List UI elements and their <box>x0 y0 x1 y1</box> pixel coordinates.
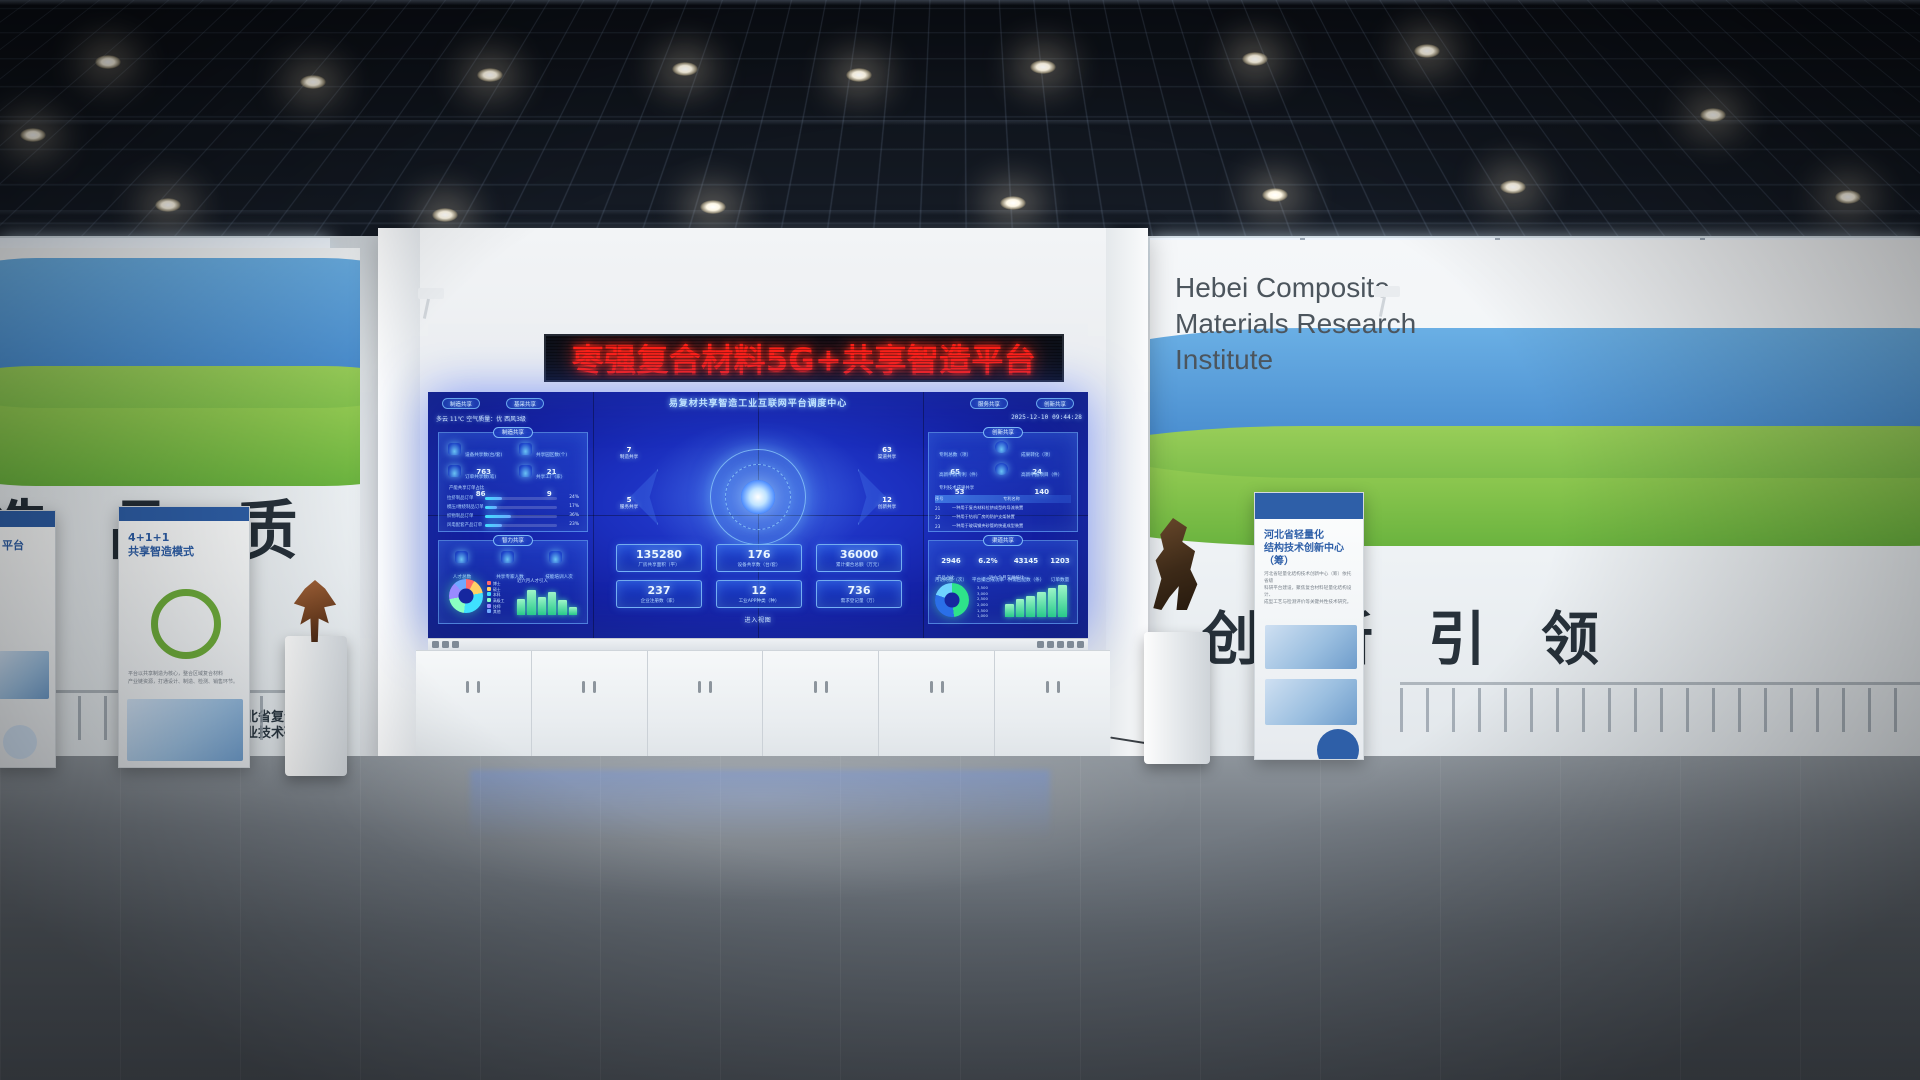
bar-fill <box>485 497 502 500</box>
metric-label: 订单数量 <box>1051 578 1069 583</box>
cell-name: 一种用于玻璃钢夹砂管的快速成型装置 <box>952 523 1071 529</box>
bar-track <box>485 524 557 527</box>
ceiling-downlight <box>1414 44 1440 58</box>
plant-icon <box>519 465 532 477</box>
legend-item: 本科 <box>487 592 501 597</box>
kpi-value: 736 <box>848 585 871 596</box>
standee-photo <box>0 651 49 699</box>
cell-no: 21 <box>935 506 947 511</box>
bar-column <box>527 590 535 615</box>
cabinet-door[interactable] <box>416 651 532 768</box>
cctv-camera-icon <box>1374 286 1400 297</box>
tab-service-share[interactable]: 服务共享 <box>970 398 1008 409</box>
order-icon <box>448 465 461 477</box>
standee-shared-manufacturing-model[interactable]: 4+1+1 共享智造模式 平台以共享制造为核心，整合区域复合材料 产业链资源，打… <box>118 506 250 768</box>
hub-node-value: 12 <box>872 496 902 504</box>
table-row[interactable]: 21 一种用于复合材料拉挤成型的导流装置 <box>935 504 1071 512</box>
kpi-label: 工业APP种类（种） <box>739 598 780 604</box>
video-wall-pillar-right <box>1106 228 1148 768</box>
ceiling-downlight <box>477 68 503 82</box>
hub-node-service[interactable]: 5 服务共享 <box>614 496 644 510</box>
tab-manufacturing-share[interactable]: 制造共享 <box>442 398 480 409</box>
y-tick: 2,500 <box>977 596 988 601</box>
metric-label: 高新申报项目（件） <box>1021 473 1062 478</box>
battery-icon[interactable] <box>1077 641 1084 648</box>
patent-table-caption: 专利技术成果共享 <box>939 485 974 491</box>
ceiling-beam <box>0 120 1920 125</box>
bar-column <box>569 607 577 615</box>
bar-label: 织物制品订单 <box>447 513 473 519</box>
patent-table-header: 序号 专利名称 <box>935 495 1071 503</box>
cabinet-door[interactable] <box>532 651 648 768</box>
kpi-value: 176 <box>748 549 771 560</box>
y-tick: 1,000 <box>977 613 988 618</box>
hub-node-label: 渠道共享 <box>878 455 896 460</box>
kpi-card-total-match-amount[interactable]: 36000 累计撮合总额（万元） <box>816 544 902 572</box>
factory-icon <box>448 443 461 455</box>
hub-node-value: 63 <box>872 446 902 454</box>
cell-no: 22 <box>935 515 947 520</box>
talent-legend: 博士 硕士 本科 高级工 技师 其他 <box>487 581 504 615</box>
standee-left-edge-title: 平台 <box>2 539 24 553</box>
panel-manufacturing-share: 制造共享 设备共享数(台/套) 763 共享园区数(个) 21 订单共享数(笔)… <box>438 432 588 532</box>
standee-photo-aircraft <box>1265 679 1357 725</box>
bar-column <box>1005 604 1014 617</box>
legend-item: 硕士 <box>487 587 501 592</box>
table-row[interactable]: 22 一种用于钻机厂房的防护支架装置 <box>935 513 1071 521</box>
hub-node-innovation[interactable]: 12 创新共享 <box>872 496 902 510</box>
cabinet-door[interactable] <box>879 651 995 768</box>
standee-photo <box>127 699 243 761</box>
bar-row-molded: 模压/缠绕制品订单 17% <box>447 504 579 511</box>
kpi-label: 厂房共享面积（平） <box>638 562 679 568</box>
expert-icon <box>501 551 514 563</box>
standee-photo-train <box>1265 625 1357 669</box>
metric-label: 成果转化（项） <box>1021 453 1053 458</box>
metric-label: 专利总数（项） <box>939 453 971 458</box>
metric-label: 共享园区数(个) <box>536 453 567 458</box>
standee-accent-band <box>119 507 249 521</box>
bar-row-windpower: 风电配套产品订单 23% <box>447 522 579 529</box>
y-tick: 3,500 <box>977 585 988 590</box>
kpi-label: 企业注册数（家） <box>641 598 678 604</box>
applicant-icon <box>995 463 1008 475</box>
bar-column <box>1048 588 1057 617</box>
metric-patent-applications: 高新申请专利（件） 53 <box>939 463 980 499</box>
transaction-y-axis: 3,500 3,000 2,500 2,000 1,500 1,000 <box>977 585 988 619</box>
ceiling-downlight <box>700 200 726 214</box>
panel-innovation-share: 创新共享 专利总数（项） 65 成果转化（项） 24 高新申请专利（件） 53 … <box>928 432 1078 532</box>
tab-equipment-share[interactable]: 基采共享 <box>506 398 544 409</box>
ceiling-beam <box>0 0 1920 5</box>
chat-icon[interactable] <box>1037 641 1044 648</box>
metric-value: 43145 <box>1014 557 1038 565</box>
panel-manufacturing-title: 制造共享 <box>493 427 533 438</box>
y-tick: 3,000 <box>977 591 988 596</box>
dashboard-screen[interactable]: 易复材共享智造工业互联网平台调度中心 2025-12-10 09:44:28 多… <box>428 392 1088 638</box>
hub-node-label: 创新共享 <box>878 505 896 510</box>
kpi-label: 需求登记量（万） <box>841 598 878 604</box>
bar-column <box>1058 585 1067 617</box>
standee-accent-band <box>1255 493 1363 519</box>
cctv-camera-icon <box>418 288 444 299</box>
ceiling-downlight <box>155 198 181 212</box>
hub-node-manufacturing[interactable]: 7 制造共享 <box>614 446 644 460</box>
balcony-railing-right <box>1400 682 1920 685</box>
metric-label: 设备共享数(台/套) <box>465 453 502 458</box>
metric-value: 6.2% <box>978 557 997 565</box>
ceiling-downlight <box>432 208 458 222</box>
standee-circle-motif <box>3 725 37 759</box>
bar-percent: 17% <box>569 504 579 509</box>
legend-item: 博士 <box>487 581 501 586</box>
kpi-card-industrial-apps[interactable]: 12 工业APP种类（种） <box>716 580 802 608</box>
column-header-no: 序号 <box>935 496 947 502</box>
led-marquee-text: 枣强复合材料5G+共享智造平台 <box>572 335 1036 381</box>
standee-left-edge[interactable]: 平台 <box>0 510 56 768</box>
bar-column <box>1026 596 1035 617</box>
bar-fill <box>485 524 502 527</box>
talent-intake-caption: 近六月人才引入 <box>517 578 548 584</box>
hub-node-value: 5 <box>614 496 644 504</box>
cabinet-door[interactable] <box>763 651 879 768</box>
led-marquee-banner: 枣强复合材料5G+共享智造平台 <box>544 334 1064 382</box>
talent-intake-chart: 近六月人才引入 <box>517 585 577 615</box>
bar-row-pultrusion: 拉挤制品订单 24% <box>447 495 579 502</box>
bar-percent: 24% <box>569 495 579 500</box>
bar-percent: 23% <box>569 522 579 527</box>
y-tick: 2,000 <box>977 602 988 607</box>
bar-percent: 36% <box>569 513 579 518</box>
metric-label: 订单共享数(笔) <box>465 475 496 480</box>
ceiling-downlight <box>1030 60 1056 74</box>
bar-column <box>538 597 546 615</box>
shield-icon[interactable] <box>1047 641 1054 648</box>
ceiling-downlight <box>1262 188 1288 202</box>
bar-label: 模压/缠绕制品订单 <box>447 504 484 510</box>
bar-series <box>517 585 577 615</box>
bar-fill <box>485 515 511 518</box>
cabinet-door[interactable] <box>995 651 1110 768</box>
cell-name: 一种用于复合材料拉挤成型的导流装置 <box>952 505 1071 511</box>
hub-node-label: 服务共享 <box>620 505 638 510</box>
metric-value: 1203 <box>1050 557 1069 565</box>
volume-icon[interactable] <box>1067 641 1074 648</box>
cell-name: 一种用于钻机厂房的防护支架装置 <box>952 514 1071 520</box>
bar-column <box>1037 592 1046 617</box>
training-icon <box>549 551 562 563</box>
column-header-name: 专利名称 <box>952 496 1071 502</box>
ceiling-downlight <box>20 128 46 142</box>
standee-ring-diagram <box>151 589 221 659</box>
dashboard-weather: 多云 11℃ 空气质量：优 西风3级 <box>436 414 526 423</box>
bar-row-fabric: 织物制品订单 36% <box>447 513 579 520</box>
legend-item: 技师 <box>487 604 501 609</box>
pedestal-left <box>285 636 347 776</box>
cabinet-row <box>416 650 1110 768</box>
standee-title: 河北省轻量化 结构技术创新中心（筹） <box>1264 529 1363 568</box>
tab-innovation-share[interactable]: 创新共享 <box>1036 398 1074 409</box>
bar-label: 拉挤制品订单 <box>447 495 473 501</box>
hub-node-channel[interactable]: 63 渠道共享 <box>872 446 902 460</box>
talent-structure-donut <box>449 579 483 613</box>
video-wall-pillar-left <box>378 228 420 768</box>
standee-title: 4+1+1 共享智造模式 <box>128 531 194 560</box>
panel-innovation-title: 创新共享 <box>983 427 1023 438</box>
bar-column <box>558 600 566 615</box>
metric-project-declarations: 高新申报项目（件） 140 <box>1021 463 1062 499</box>
ceiling-downlight <box>1000 196 1026 210</box>
ceiling-downlight <box>846 68 872 82</box>
kpi-value: 135280 <box>636 549 682 560</box>
bar-column <box>548 592 556 615</box>
windows-taskbar[interactable] <box>428 638 1088 650</box>
bar-track <box>485 497 557 500</box>
product-share-donut <box>935 583 969 617</box>
metric-label: 高新申请专利（件） <box>939 473 980 478</box>
bar-column <box>1016 599 1025 617</box>
standee-lightweight-structure-center[interactable]: 河北省轻量化 结构技术创新中心（筹） 河北省轻量化结构技术创新中心（筹）依托省级… <box>1254 492 1364 760</box>
y-tick: 1,500 <box>977 608 988 613</box>
product-pie-caption: 产品占比 <box>937 575 955 581</box>
hub-node-value: 7 <box>614 446 644 454</box>
banner-ribbon-green <box>0 366 360 486</box>
people-icon <box>455 551 468 563</box>
browser-icon[interactable] <box>442 641 449 648</box>
legend-item: 高级工 <box>487 598 504 603</box>
ceiling-downlight <box>95 55 121 69</box>
bar-track <box>485 515 557 518</box>
standee-circle-motif <box>1317 729 1359 760</box>
kpi-value: 237 <box>648 585 671 596</box>
ceiling-beam <box>0 210 1920 215</box>
bar-fill <box>485 506 497 509</box>
metric-value: 2946 <box>941 557 960 565</box>
kpi-label: 设备共享数（台/套） <box>738 562 781 568</box>
table-row[interactable]: 23 一种用于玻璃钢夹砂管的快速成型装置 <box>935 522 1071 530</box>
cell-no: 23 <box>935 524 947 529</box>
hub-node-label: 制造共享 <box>620 455 638 460</box>
windows-icon[interactable] <box>432 641 439 648</box>
panel-talent-title: 智力共享 <box>493 535 533 546</box>
screen-floor-reflection <box>470 770 1050 840</box>
innovation-icon <box>995 441 1008 453</box>
bar-series <box>1005 585 1067 617</box>
standee-body-text: 河北省轻量化结构技术创新中心（筹）依托省级 科研平台建设，聚焦复合材料轻量化结构… <box>1264 571 1354 607</box>
kpi-card-equipment-share[interactable]: 176 设备共享数（台/套） <box>716 544 802 572</box>
kpi-value: 36000 <box>840 549 878 560</box>
panel-channel-share: 渠道共享 2946 月访问量（次） 6.2% 平台撮合成功率 43145 供需匹… <box>928 540 1078 624</box>
panel-channel-title: 渠道共享 <box>983 535 1023 546</box>
pedestal-right <box>1144 632 1210 764</box>
network-icon[interactable] <box>1057 641 1064 648</box>
cabinet-door[interactable] <box>648 651 764 768</box>
ceiling-downlight <box>1500 180 1526 194</box>
ceiling-downlight <box>1700 108 1726 122</box>
panel-talent-share: 智力共享 人才总数 共享专家人数 技能培训人次 博士 硕士 本科 高级工 技师 … <box>438 540 588 624</box>
ceiling-downlight <box>1835 190 1861 204</box>
bar-track <box>485 506 557 509</box>
dashboard-datetime: 2025-12-10 09:44:28 <box>1011 414 1082 421</box>
scene-root: 造 品 质 河北省复合材料 产业技术研究院 Hebei Composite Ma… <box>0 0 1920 1080</box>
transaction-chart-caption: 近六个月交易统计 <box>989 575 1024 581</box>
bar-label: 风电配套产品订单 <box>447 522 482 528</box>
ceiling-downlight <box>300 75 326 89</box>
building-icon <box>519 443 532 455</box>
legend-item: 其他 <box>487 609 501 614</box>
standee-accent-band <box>0 511 55 527</box>
ceiling-downlight <box>672 62 698 76</box>
kpi-card-factory-area[interactable]: 135280 厂房共享面积（平） <box>616 544 702 572</box>
kpi-card-registered-companies[interactable]: 237 企业注册数（家） <box>616 580 702 608</box>
metric-label: 共享工厂(家) <box>536 475 563 480</box>
standee-body-text: 平台以共享制造为核心，整合区域复合材料 产业链资源，打通设计、制造、检测、销售环… <box>128 671 240 687</box>
metric-order-count: 1203 订单数量 <box>1045 550 1075 586</box>
ceiling-downlight <box>1242 52 1268 66</box>
metric-label: 技能培训人次 <box>545 575 573 580</box>
transaction-bar-chart <box>1005 585 1067 617</box>
kpi-card-demand-registrations[interactable]: 736 需求登记量（万） <box>816 580 902 608</box>
folder-icon[interactable] <box>452 641 459 648</box>
capacity-share-caption: 产能共享订单占比 <box>449 485 484 491</box>
share-hub-icon[interactable] <box>741 480 775 514</box>
enter-view-button[interactable]: 进入视图 <box>745 615 772 624</box>
kpi-value: 12 <box>751 585 766 596</box>
bar-column <box>517 599 525 615</box>
kpi-label: 累计撮合总额（万元） <box>836 562 882 568</box>
